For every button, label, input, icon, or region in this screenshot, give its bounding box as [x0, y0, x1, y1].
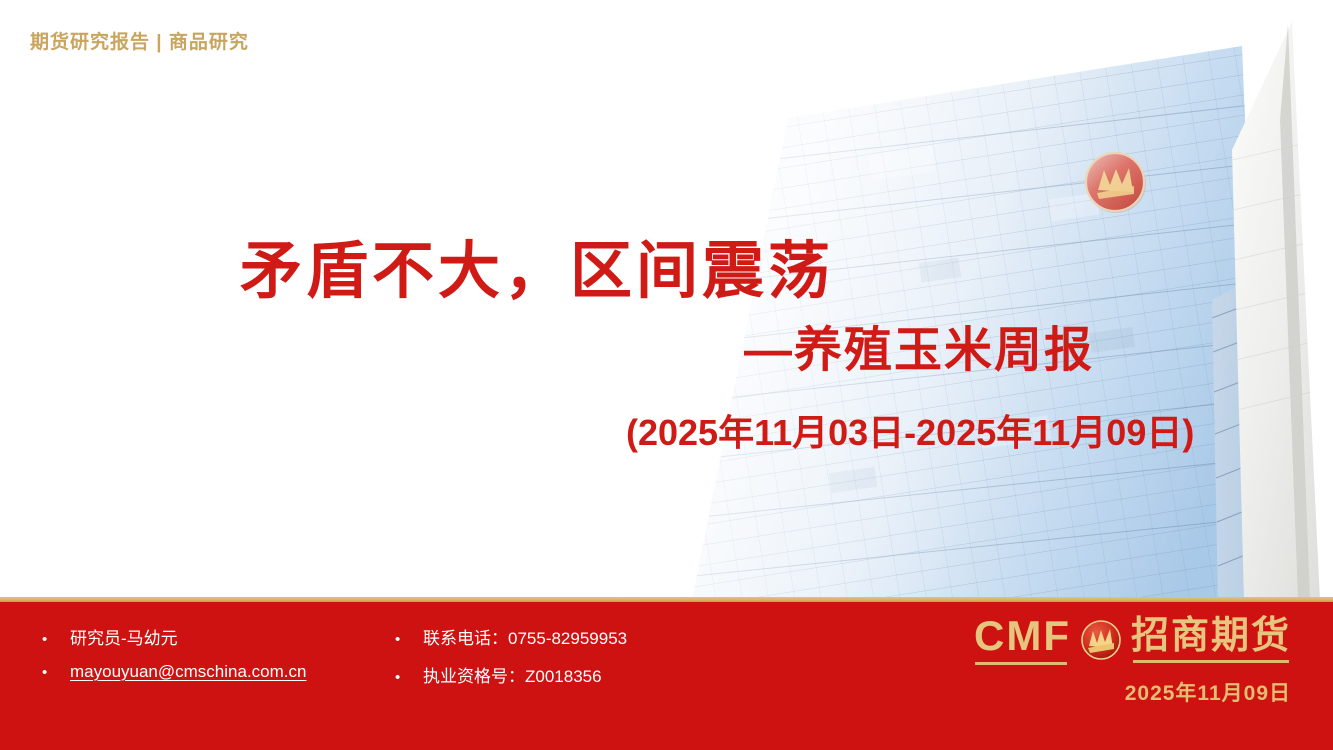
building-artwork: [620, 0, 1333, 600]
brand-latin-name: CMF: [974, 615, 1071, 665]
brand-lockup: CMF 招商期货 2025年11月09日: [974, 615, 1291, 707]
footer-banner: • 研究员-马幼元 • mayouyuan@cmschina.com.cn • …: [0, 597, 1333, 750]
publish-date: 2025年11月09日: [974, 677, 1291, 707]
report-cover-page: 期货研究报告 | 商品研究: [0, 0, 1333, 750]
bullet-icon: •: [42, 631, 70, 648]
contact-row-phone: • 联系电话：0755-82959953: [395, 624, 815, 662]
contact-row-email[interactable]: • mayouyuan@cmschina.com.cn: [42, 662, 402, 700]
contact-row-license: • 执业资格号：Z0018356: [395, 662, 815, 700]
footer-gold-stripe: [0, 597, 1333, 602]
brand-chinese-name: 招商期货: [1131, 617, 1291, 663]
bullet-icon: •: [395, 669, 423, 686]
brand-row: CMF 招商期货: [974, 615, 1291, 665]
practice-license-number: 执业资格号：Z0018356: [423, 662, 602, 687]
contact-phone: 联系电话：0755-82959953: [423, 624, 627, 649]
contact-column-right: • 联系电话：0755-82959953 • 执业资格号：Z0018356: [395, 624, 815, 700]
analyst-email-link[interactable]: mayouyuan@cmschina.com.cn: [70, 662, 306, 682]
report-category-header: 期货研究报告 | 商品研究: [30, 27, 249, 54]
contact-row-analyst: • 研究员-马幼元: [42, 624, 402, 662]
building-illustration: [620, 0, 1333, 600]
contact-column-left: • 研究员-马幼元 • mayouyuan@cmschina.com.cn: [42, 624, 402, 700]
bullet-icon: •: [42, 664, 70, 681]
cmf-circular-emblem-icon: [1081, 620, 1121, 660]
bullet-icon: •: [395, 631, 423, 648]
analyst-name: 研究员-马幼元: [70, 624, 178, 649]
artwork-fade-overlay: [620, 0, 1333, 600]
